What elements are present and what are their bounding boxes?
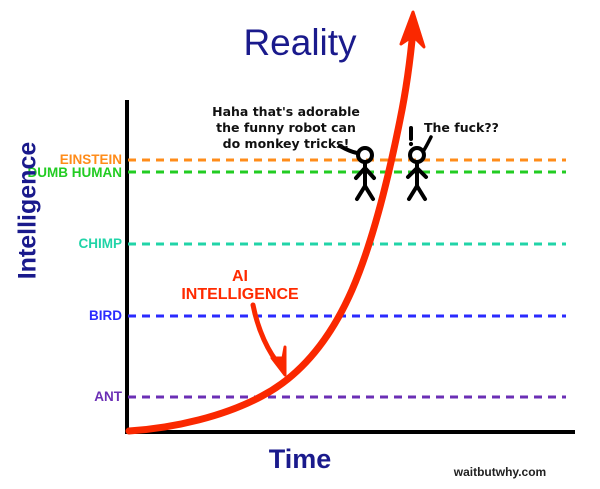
x-axis-title: Time <box>240 444 360 475</box>
speech-tail-right-icon <box>424 137 431 150</box>
stick-figure-right <box>408 148 426 199</box>
ai-intelligence-curve <box>129 30 413 431</box>
chart-canvas: Reality <box>0 0 600 489</box>
threshold-label-chimp: CHIMP <box>79 237 123 251</box>
footer-credit: waitbutwhy.com <box>420 465 580 479</box>
exclamation-mark-icon <box>409 128 413 146</box>
stick-figure-left <box>356 148 374 199</box>
speech-text-right: The fuck?? <box>424 120 534 136</box>
y-axis-title: Intelligence <box>14 121 43 301</box>
callout-arrowhead-icon <box>272 347 285 375</box>
threshold-label-ant: ANT <box>94 390 122 404</box>
speech-text-left: Haha that's adorable the funny robot can… <box>196 104 376 152</box>
threshold-label-bird: BIRD <box>89 309 122 323</box>
ai-intelligence-callout-label: AI INTELLIGENCE <box>160 268 320 305</box>
